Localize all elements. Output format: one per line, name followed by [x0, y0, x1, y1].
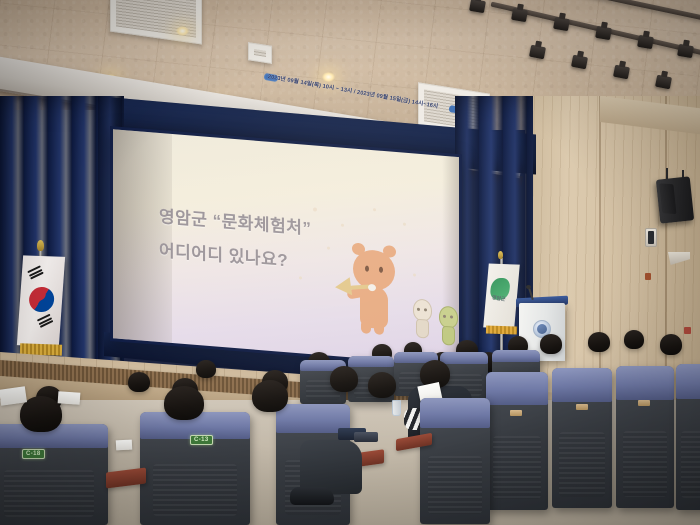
seat-number-plate	[510, 410, 522, 416]
bear-eye-left	[365, 266, 369, 272]
stage-spotlight-icon	[613, 65, 630, 80]
microphone-icon	[526, 285, 531, 289]
audience-head	[196, 360, 216, 378]
projection-screen-frame: 영암군 “문화체험처” 어디어디 있나요?	[110, 126, 462, 369]
slide-headline-line1: 영암군 “문화체험처”	[159, 202, 311, 239]
green-mascot-character	[438, 305, 458, 347]
auditorium-seat[interactable]	[420, 398, 490, 524]
flagpole-finial-right	[498, 251, 503, 259]
slide-sparkle	[299, 276, 302, 279]
stage-spotlight-icon	[553, 17, 570, 31]
stage-spotlight-icon	[511, 8, 528, 22]
auditorium-seat[interactable]	[486, 372, 548, 510]
printed-handout[interactable]	[116, 440, 133, 451]
auditorium-seat[interactable]	[0, 424, 108, 525]
stage-spotlight-icon	[571, 55, 588, 70]
seat-headrest	[420, 398, 490, 428]
slide-sparkle	[341, 224, 344, 227]
auditorium-seat[interactable]	[676, 364, 700, 510]
trigram-geon	[27, 265, 44, 281]
slide-sparkle	[403, 223, 406, 226]
bear-leg-right	[374, 324, 384, 335]
mascot-eye-right	[450, 315, 453, 318]
slide-sparkle	[413, 273, 416, 276]
mascot-body	[442, 326, 455, 346]
stage-spotlight-icon	[469, 0, 486, 13]
mascot-eye-left	[443, 315, 446, 318]
stage-spotlight-icon	[637, 35, 654, 49]
seat-headrest	[486, 372, 548, 405]
seat-headrest	[348, 356, 394, 367]
audience-head	[128, 372, 150, 392]
projection-screen: 영암군 “문화체험처” 어디어디 있나요?	[113, 129, 459, 366]
audience-head	[164, 386, 204, 420]
trumpet-bear-character	[341, 240, 403, 337]
county-flag: 영암군	[483, 264, 520, 329]
mascot-body	[416, 319, 429, 339]
audience-head	[368, 372, 396, 398]
audience-head	[660, 334, 682, 355]
wall-control-panel-icon	[645, 228, 657, 247]
mascot-eye-right	[424, 308, 427, 311]
ceiling-speaker-grille-icon	[248, 42, 272, 64]
audience-head	[588, 332, 610, 352]
trumpet-mouthpiece	[368, 284, 376, 292]
auditorium-seat[interactable]	[140, 412, 250, 525]
downlight-icon	[176, 26, 189, 36]
stage-spotlight-icon	[529, 45, 546, 60]
line-array-speaker-icon	[656, 176, 694, 223]
stage-spotlight-icon	[655, 75, 672, 90]
printed-handout[interactable]	[58, 391, 81, 405]
sneaker-icon	[290, 487, 334, 505]
auditorium-photo: 2023년 09월 14일(목) 10시 ~ 13시 / 2023년 09월 1…	[0, 0, 700, 525]
audience-head	[624, 330, 644, 349]
trigram-gon	[37, 314, 54, 330]
stage-spotlight-icon	[677, 44, 694, 58]
slide-sparkle	[373, 208, 376, 211]
slide-sparkle	[327, 246, 330, 249]
korean-national-flag	[17, 255, 65, 346]
audience-head	[252, 380, 288, 412]
audience-head	[540, 334, 562, 354]
seat-label-c18: C-18	[22, 449, 45, 459]
audience-person-leg	[300, 440, 362, 494]
taeguk-symbol	[25, 283, 58, 316]
auditorium-seat[interactable]	[616, 366, 674, 508]
seat-headrest	[440, 352, 488, 364]
seat-number-plate	[638, 400, 650, 406]
mascot-eye-left	[417, 308, 420, 311]
seat-number-plate	[576, 404, 588, 410]
seat-headrest	[552, 368, 612, 402]
bear-eye-right	[379, 267, 383, 273]
seat-headrest	[492, 350, 540, 362]
paper-cup[interactable]	[392, 400, 401, 416]
flagpole-finial-left	[37, 240, 44, 251]
downlight-icon	[322, 72, 335, 82]
seat-headrest	[676, 364, 700, 399]
slide-headline-line2: 어디어디 있나요?	[159, 236, 288, 271]
slide-sparkle	[313, 207, 317, 211]
seat-headrest	[616, 366, 674, 400]
flag-fringe-right	[486, 325, 517, 334]
auditorium-seat[interactable]	[552, 368, 612, 508]
seat-label-c13: C-13	[190, 435, 213, 445]
wall-sign-icon	[684, 327, 691, 334]
audience-head	[330, 366, 358, 392]
wall-outlet-icon	[645, 273, 651, 280]
notebook-icon[interactable]	[354, 432, 378, 442]
county-flag-text: 영암군	[491, 294, 506, 303]
stage-spotlight-icon	[595, 26, 612, 40]
bear-leg-left	[361, 323, 371, 334]
mask-mascot-character	[412, 298, 432, 340]
